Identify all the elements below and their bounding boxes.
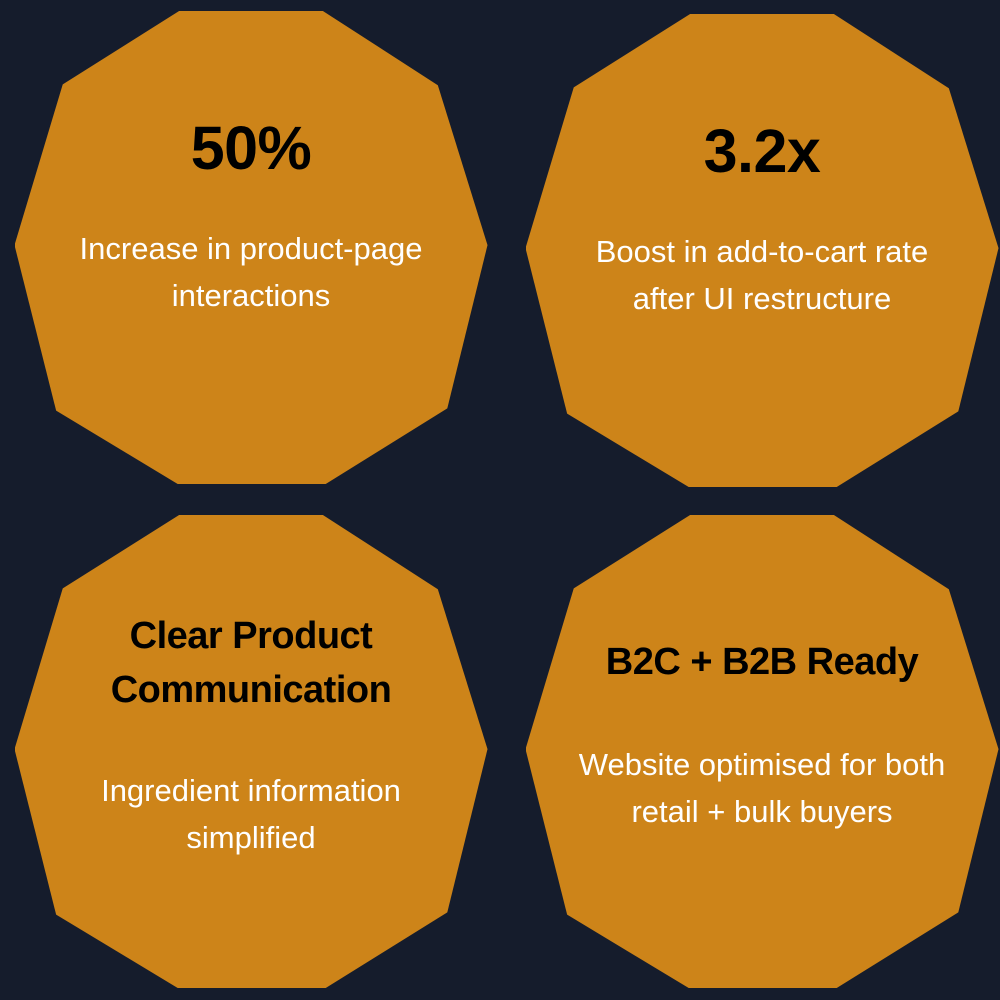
stat-body: Boost in add-to-cart rate after UI restr…	[563, 228, 960, 322]
stat-body: Ingredient information simplified	[52, 767, 449, 861]
stat-cell-b2c-b2b-ready: B2C + B2B Ready Website optimised for bo…	[500, 500, 1000, 1000]
stat-card-grid: 50% Increase in product-page interaction…	[0, 0, 1000, 1000]
stat-headline: B2C + B2B Ready	[578, 635, 947, 689]
stat-headline: 3.2x	[578, 118, 947, 184]
nonagon-badge: B2C + B2B Ready Website optimised for bo…	[526, 515, 999, 988]
nonagon-badge: 3.2x Boost in add-to-cart rate after UI …	[526, 14, 999, 487]
nonagon-badge: Clear Product Communication Ingredient i…	[15, 515, 488, 988]
stat-cell-add-to-cart-rate: 3.2x Boost in add-to-cart rate after UI …	[500, 0, 1000, 500]
stat-headline: Clear Product Communication	[67, 609, 436, 717]
stat-headline: 50%	[67, 115, 436, 181]
nonagon-badge: 50% Increase in product-page interaction…	[15, 11, 488, 484]
stat-body: Increase in product-page interactions	[52, 225, 449, 319]
stat-cell-product-page-interactions: 50% Increase in product-page interaction…	[0, 0, 500, 500]
stat-body: Website optimised for both retail + bulk…	[563, 741, 960, 835]
stat-cell-clear-product-communication: Clear Product Communication Ingredient i…	[0, 500, 500, 1000]
